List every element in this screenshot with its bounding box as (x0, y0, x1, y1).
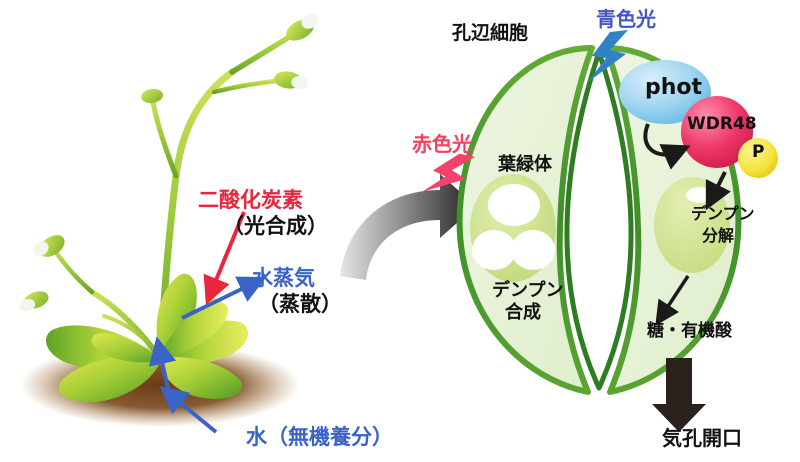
starch-degradation-vesicle (654, 177, 730, 273)
chloroplast-label: 葉緑体 (498, 155, 552, 176)
water-label: 水（無機養分） (246, 425, 393, 449)
stomatal-opening-label: 気孔開口 (662, 427, 742, 450)
phot-label: phot (645, 75, 702, 100)
blue-light-label: 青色光 (596, 8, 656, 31)
co2-label: 二酸化炭素 (198, 188, 303, 212)
phosphate-label: P (752, 143, 764, 163)
guard-cell-label: 孔辺細胞 (452, 23, 528, 45)
transpiration-sub-label: （蒸散） (258, 292, 342, 316)
co2-sub-label: （光合成） (223, 214, 328, 238)
red-light-label: 赤色光 (412, 133, 472, 156)
water-vapor-label: 水蒸気 (252, 266, 315, 290)
figure-canvas: 二酸化炭素 （光合成） 水蒸気 （蒸散） 水（無機養分） (0, 0, 800, 462)
starch-degradation-label-2: 分解 (702, 227, 734, 245)
starch-synthesis-label-1: デンプン (492, 281, 563, 302)
starch-synthesis-label-2: 合成 (505, 303, 541, 324)
chloroplast (470, 174, 556, 282)
starch-degradation-label-1: デンプン (691, 205, 755, 223)
sugar-organic-acid-label: 糖・有機酸 (647, 322, 732, 342)
guard-cell-panel (420, 0, 800, 462)
wdr48-label: WDR48 (687, 115, 757, 135)
